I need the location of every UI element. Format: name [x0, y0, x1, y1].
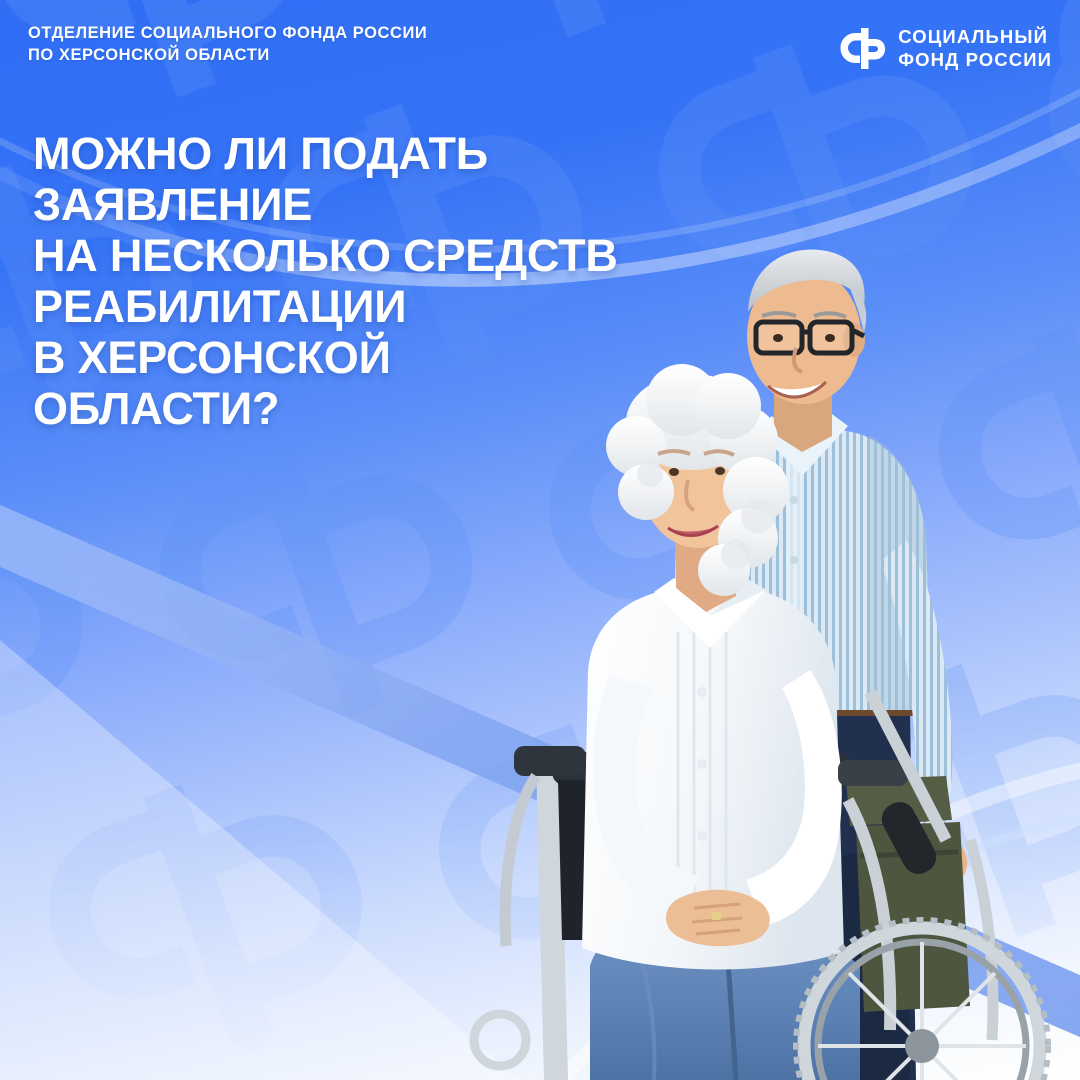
headline-line-4: РЕАБИЛИТАЦИИ	[33, 281, 793, 332]
headline-line-6: ОБЛАСТИ?	[33, 383, 793, 434]
headline-block: МОЖНО ЛИ ПОДАТЬ ЗАЯВЛЕНИЕ НА НЕСКОЛЬКО С…	[33, 128, 793, 434]
organization-name-line2: ПО ХЕРСОНСКОЙ ОБЛАСТИ	[28, 44, 427, 66]
sfr-wordmark-line1: СОЦИАЛЬНЫЙ	[898, 25, 1052, 48]
organization-name: ОТДЕЛЕНИЕ СОЦИАЛЬНОГО ФОНДА РОССИИ ПО ХЕ…	[28, 22, 427, 67]
poster-header: ОТДЕЛЕНИЕ СОЦИАЛЬНОГО ФОНДА РОССИИ ПО ХЕ…	[0, 0, 1080, 92]
sfr-wordmark: СОЦИАЛЬНЫЙ ФОНД РОССИИ	[898, 25, 1052, 71]
headline-line-1: МОЖНО ЛИ ПОДАТЬ	[33, 128, 793, 179]
sfr-brand-lockup: СОЦИАЛЬНЫЙ ФОНД РОССИИ	[835, 22, 1052, 73]
wheelchair-frame	[474, 692, 1048, 1080]
organization-name-line1: ОТДЕЛЕНИЕ СОЦИАЛЬНОГО ФОНДА РОССИИ	[28, 22, 427, 44]
poster-canvas: ОТДЕЛЕНИЕ СОЦИАЛЬНОГО ФОНДА РОССИИ ПО ХЕ…	[0, 0, 1080, 1080]
sfr-monogram-icon	[835, 23, 885, 73]
headline-line-5: В ХЕРСОНСКОЙ	[33, 332, 793, 383]
headline-line-3: НА НЕСКОЛЬКО СРЕДСТВ	[33, 230, 793, 281]
seated-woman-figure	[536, 364, 860, 1080]
diagonal-band	[0, 470, 1080, 1072]
headline-line-2: ЗАЯВЛЕНИЕ	[33, 179, 793, 230]
sfr-wordmark-line2: ФОНД РОССИИ	[898, 48, 1052, 71]
